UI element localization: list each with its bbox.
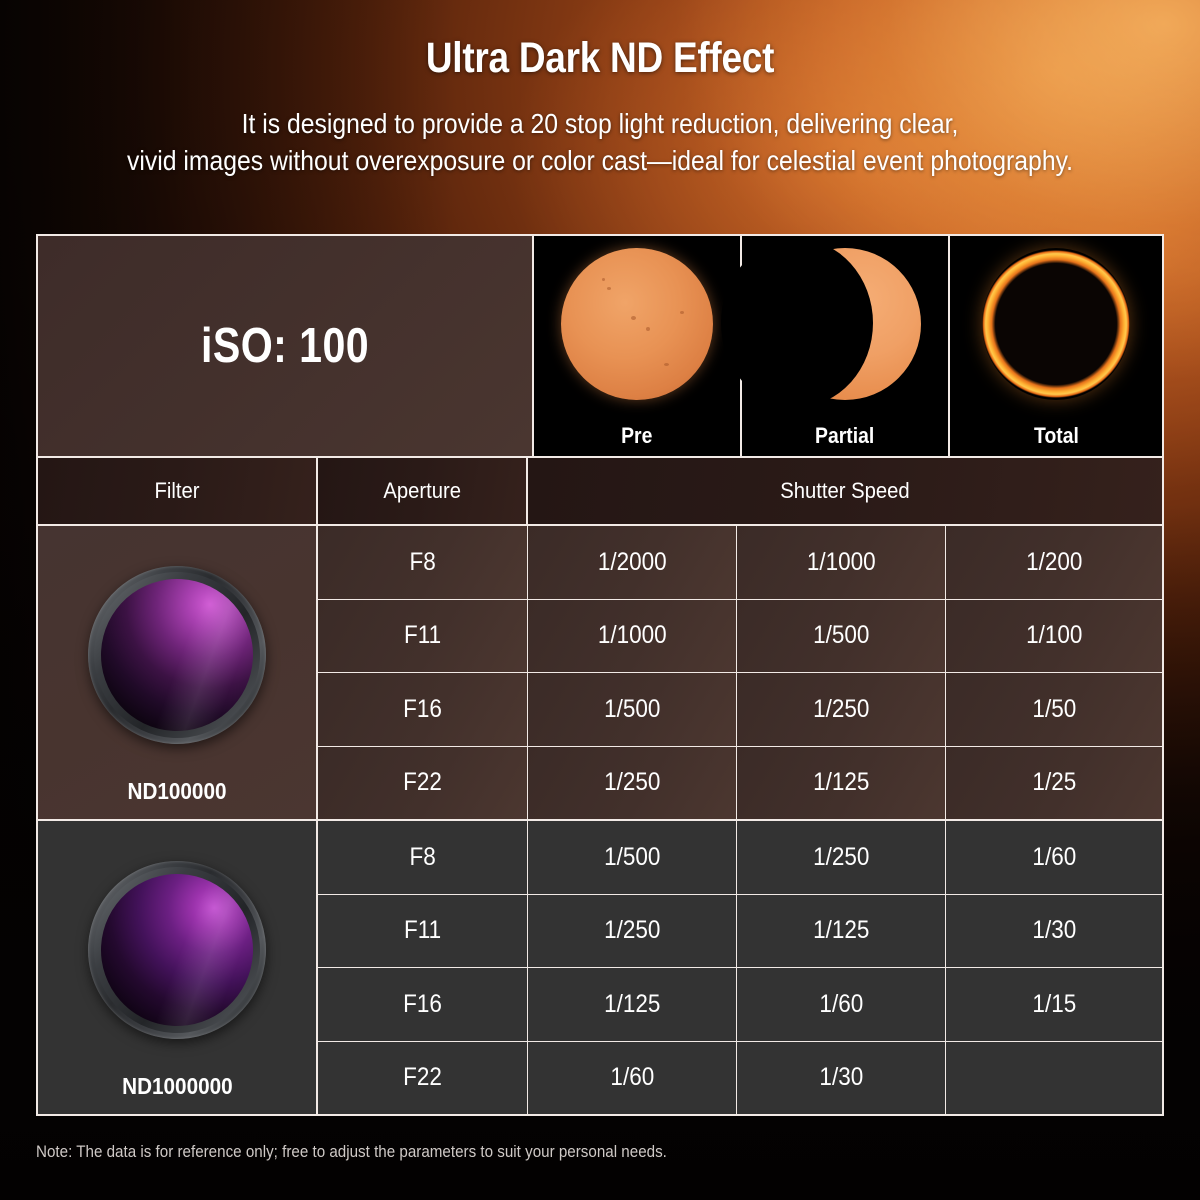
cell-total: 1/30 [946, 895, 1162, 968]
sunspot [680, 311, 684, 314]
iso-cell: iSO: 100 [38, 236, 534, 456]
ring-of-fire-icon [950, 242, 1162, 412]
rows-container: F8 1/2000 1/1000 1/200 F11 1/1000 1/500 … [318, 526, 1162, 819]
crescent-sun-icon [742, 242, 948, 412]
filter-block-nd1000000: ND1000000 F8 1/500 1/250 1/60 F11 1/250 … [38, 819, 1162, 1114]
ring-shape [982, 248, 1130, 400]
cell-partial-text: 1/250 [813, 695, 869, 724]
cell-partial: 1/1000 [737, 526, 946, 599]
crescent-occluder [721, 239, 873, 407]
table-row: F8 1/500 1/250 1/60 [318, 821, 1162, 895]
cell-partial: 1/125 [737, 895, 946, 968]
table-top-band: iSO: 100 Pre [38, 236, 1162, 458]
cell-partial: 1/250 [737, 673, 946, 746]
iso-label: iSO: 100 [201, 318, 369, 374]
table-row: F8 1/2000 1/1000 1/200 [318, 526, 1162, 600]
nd-filter-lens-icon [76, 849, 277, 1050]
cell-aperture-text: F8 [409, 548, 435, 577]
phase-cell-pre: Pre [534, 236, 742, 456]
cell-aperture: F22 [318, 1042, 528, 1115]
cell-partial-text: 1/125 [813, 916, 869, 945]
cell-pre-text: 1/250 [604, 916, 660, 945]
cell-total: 1/25 [946, 747, 1162, 820]
cell-pre-text: 1/250 [604, 768, 660, 797]
cell-pre: 1/250 [528, 747, 737, 820]
cell-pre: 1/2000 [528, 526, 737, 599]
subtitle-line-1: It is designed to provide a 20 stop ligh… [60, 106, 1140, 143]
cell-partial-text: 1/250 [813, 843, 869, 872]
sun-disc-shape [561, 248, 713, 400]
cell-total-text: 1/200 [1026, 548, 1082, 577]
page-title: Ultra Dark ND Effect [84, 34, 1116, 83]
column-header-filter-label: Filter [155, 478, 200, 504]
sunspot [646, 327, 650, 331]
cell-total-text: 1/30 [1032, 916, 1076, 945]
cell-total-text: 1/25 [1032, 768, 1076, 797]
cell-aperture: F8 [318, 526, 528, 599]
cell-pre: 1/500 [528, 821, 737, 894]
column-header-aperture-label: Aperture [383, 478, 461, 504]
cell-pre: 1/1000 [528, 600, 737, 673]
cell-total-text: 1/100 [1026, 621, 1082, 650]
cell-total-text: 1/15 [1032, 990, 1076, 1019]
cell-pre-text: 1/500 [604, 843, 660, 872]
cell-aperture-text: F16 [403, 695, 442, 724]
table-body: ND100000 F8 1/2000 1/1000 1/200 F11 1/10… [38, 526, 1162, 1114]
cell-aperture-text: F22 [403, 768, 442, 797]
column-header-shutter-label: Shutter Speed [780, 478, 909, 504]
cell-aperture: F16 [318, 968, 528, 1041]
cell-partial-text: 1/500 [813, 621, 869, 650]
crescent-shape [769, 248, 921, 400]
full-sun-disc-icon [534, 242, 740, 412]
filter-block-nd100000: ND100000 F8 1/2000 1/1000 1/200 F11 1/10… [38, 526, 1162, 819]
filter-cell: ND1000000 [38, 821, 318, 1114]
footer-note: Note: The data is for reference only; fr… [36, 1143, 667, 1162]
phase-label-partial: Partial [815, 423, 874, 449]
cell-total: 1/100 [946, 600, 1162, 673]
cell-partial-text: 1/125 [813, 768, 869, 797]
cell-pre-text: 1/1000 [598, 621, 667, 650]
sunspot [602, 278, 605, 281]
cell-pre: 1/250 [528, 895, 737, 968]
cell-partial-text: 1/30 [819, 1063, 863, 1092]
cell-total-text: 1/50 [1032, 695, 1076, 724]
column-header-filter: Filter [38, 458, 318, 524]
table-row: F22 1/60 1/30 [318, 1042, 1162, 1115]
phase-label-total: Total [1034, 423, 1079, 449]
cell-partial-text: 1/60 [819, 990, 863, 1019]
sunspot [664, 363, 669, 366]
cell-total: 1/50 [946, 673, 1162, 746]
cell-aperture-text: F22 [403, 1063, 442, 1092]
cell-pre: 1/500 [528, 673, 737, 746]
table-row: F11 1/250 1/125 1/30 [318, 895, 1162, 969]
cell-pre-text: 1/60 [610, 1063, 654, 1092]
cell-aperture-text: F16 [403, 990, 442, 1019]
cell-partial-text: 1/1000 [807, 548, 876, 577]
phase-cell-partial: Partial [742, 236, 950, 456]
cell-partial: 1/30 [737, 1042, 946, 1115]
cell-partial: 1/500 [737, 600, 946, 673]
subtitle-line-2: vivid images without overexposure or col… [60, 143, 1140, 180]
cell-aperture: F8 [318, 821, 528, 894]
table-row: F16 1/125 1/60 1/15 [318, 968, 1162, 1042]
header: Ultra Dark ND Effect It is designed to p… [0, 0, 1200, 179]
filter-cell: ND100000 [38, 526, 318, 819]
rows-container: F8 1/500 1/250 1/60 F11 1/250 1/125 1/30… [318, 821, 1162, 1114]
phase-label-pre: Pre [621, 423, 652, 449]
product-infographic: Ultra Dark ND Effect It is designed to p… [0, 0, 1200, 1200]
filter-name-label: ND100000 [128, 778, 227, 805]
nd-filter-lens-icon [76, 554, 277, 755]
exposure-table: iSO: 100 Pre [36, 234, 1164, 1116]
phase-cell-total: Total [950, 236, 1162, 456]
table-row: F11 1/1000 1/500 1/100 [318, 600, 1162, 674]
page-subtitle: It is designed to provide a 20 stop ligh… [60, 106, 1140, 179]
cell-pre-text: 1/125 [604, 990, 660, 1019]
table-row: F22 1/250 1/125 1/25 [318, 747, 1162, 820]
cell-partial: 1/250 [737, 821, 946, 894]
column-header-shutter-speed: Shutter Speed [528, 458, 1162, 524]
cell-total: 1/15 [946, 968, 1162, 1041]
cell-pre-text: 1/2000 [598, 548, 667, 577]
cell-total [946, 1042, 1162, 1115]
cell-total: 1/60 [946, 821, 1162, 894]
cell-aperture: F16 [318, 673, 528, 746]
cell-aperture: F22 [318, 747, 528, 820]
cell-partial: 1/60 [737, 968, 946, 1041]
cell-aperture-text: F8 [409, 843, 435, 872]
filter-name-label: ND1000000 [122, 1073, 232, 1100]
cell-aperture-text: F11 [404, 916, 441, 945]
cell-total: 1/200 [946, 526, 1162, 599]
cell-aperture: F11 [318, 600, 528, 673]
cell-pre-text: 1/500 [604, 695, 660, 724]
cell-total-text: 1/60 [1032, 843, 1076, 872]
table-row: F16 1/500 1/250 1/50 [318, 673, 1162, 747]
cell-pre: 1/125 [528, 968, 737, 1041]
cell-pre: 1/60 [528, 1042, 737, 1115]
cell-aperture: F11 [318, 895, 528, 968]
cell-partial: 1/125 [737, 747, 946, 820]
cell-aperture-text: F11 [404, 621, 441, 650]
sunspot [631, 316, 636, 320]
sunspot [607, 287, 611, 290]
table-column-headers: Filter Aperture Shutter Speed [38, 458, 1162, 526]
column-header-aperture: Aperture [318, 458, 528, 524]
